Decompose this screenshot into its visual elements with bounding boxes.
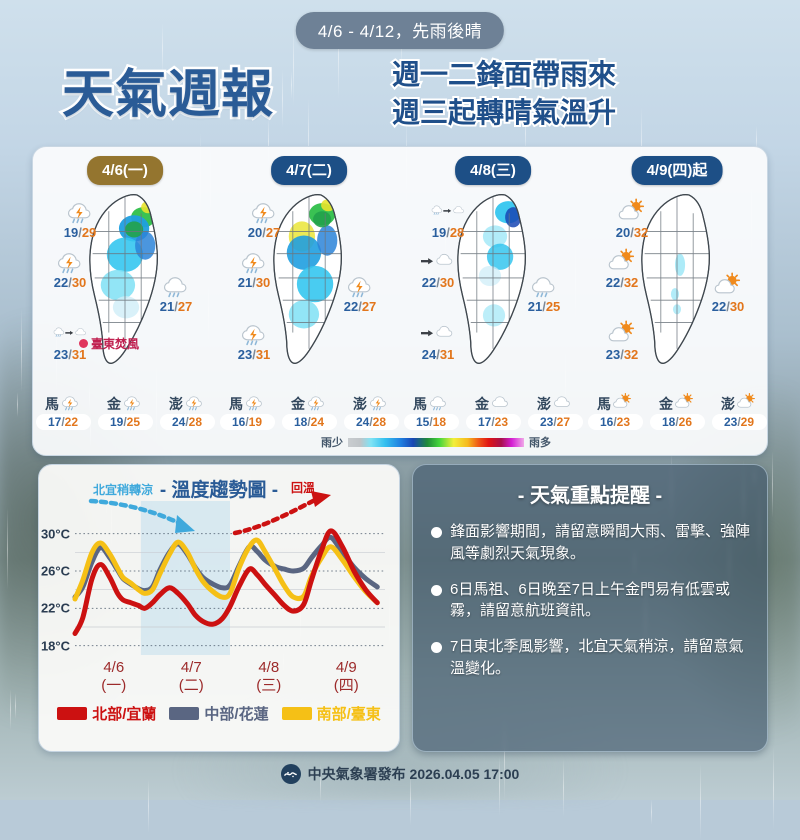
- island-name: 澎: [537, 394, 551, 414]
- thunderstorm-icon: [60, 392, 81, 416]
- subtitle-line-1: 週一二鋒面帶雨來: [392, 56, 616, 94]
- day-label-pill: 4/9(四)起: [632, 156, 723, 185]
- spot-temperature: 22/30: [689, 299, 767, 314]
- island-forecast: 金 19/25: [98, 393, 153, 437]
- arrow-to-cloud-icon: [399, 317, 477, 347]
- island-forecast: 澎 24/28: [344, 393, 399, 437]
- temp-min: 20: [616, 225, 630, 240]
- chart-legend-item: 北部/宜蘭: [57, 703, 156, 724]
- rain-legend: 雨少 雨多: [321, 433, 551, 451]
- temp-max: 18: [433, 415, 446, 429]
- rain-icon: [505, 269, 583, 299]
- island-name: 金: [107, 394, 121, 414]
- spot-temperature: 22/30: [399, 275, 477, 290]
- chart-x-tick: 4/7(二): [179, 659, 204, 696]
- thunderstorm-icon: [41, 195, 119, 225]
- day-note: 臺東焚風: [79, 335, 139, 352]
- temp-max: 22: [65, 415, 78, 429]
- island-forecast: 馬 16/19: [220, 393, 275, 437]
- forecast-spot: 19/29: [41, 195, 119, 240]
- tip-item: 鋒面影響期間，請留意瞬間大雨、雷擊、強陣風等劇烈天氣現象。: [431, 521, 753, 565]
- spot-temperature: 19/28: [409, 225, 487, 240]
- temp-max: 28: [373, 415, 386, 429]
- chart-x-date: 4/6: [101, 659, 126, 677]
- sun-cloud-icon: [689, 269, 767, 299]
- temp-min: 24: [172, 415, 185, 429]
- rain-legend-low: 雨少: [321, 434, 343, 450]
- island-forecast-row: 馬 16/19 金 18/24 澎 24/28: [217, 393, 401, 437]
- spot-temperature: 20/27: [225, 225, 303, 240]
- forecast-spot: 23/32: [583, 317, 661, 362]
- temp-min: 19: [432, 225, 446, 240]
- spot-temperature: 23/31: [215, 347, 293, 362]
- chart-legend-swatch: [57, 707, 87, 720]
- sun-cloud-icon: [593, 195, 671, 225]
- temp-min: 19: [110, 415, 123, 429]
- chart-x-weekday: (一): [101, 677, 126, 695]
- temp-min: 16: [600, 415, 613, 429]
- island-temperature: 18/26: [650, 414, 705, 430]
- chart-x-weekday: (四): [334, 677, 359, 695]
- day-note-text: 臺東焚風: [91, 335, 139, 352]
- chart-x-tick: 4/6(一): [101, 659, 126, 696]
- sun-cloud-icon: [736, 392, 757, 416]
- island-forecast-row: 馬 17/22 金 19/25 澎 24/28: [33, 393, 217, 437]
- thunderstorm-icon: [122, 392, 143, 416]
- forecast-spot: 20/27: [225, 195, 303, 240]
- thunderstorm-icon: [244, 392, 265, 416]
- chart-x-date: 4/7: [179, 659, 204, 677]
- island-temperature: 18/24: [282, 414, 337, 430]
- day-label-pill: 4/6(一): [87, 156, 163, 185]
- forecast-day-column: 4/6(一) 19/29 22/30 21/27 23/31 臺東焚風: [33, 147, 217, 391]
- footer-text: 中央氣象署發布 2026.04.05 17:00: [308, 764, 520, 784]
- temp-max: 27: [178, 299, 192, 314]
- tip-item: 7日東北季風影響，北宜天氣稍涼，請留意氣溫變化。: [431, 636, 753, 680]
- temp-max: 25: [127, 415, 140, 429]
- spot-temperature: 24/31: [399, 347, 477, 362]
- temp-min: 21: [528, 299, 542, 314]
- rain-legend-gradient: [348, 438, 524, 447]
- temp-max: 32: [624, 275, 638, 290]
- forecast-spot: 19/28: [409, 195, 487, 240]
- island-forecast: 金 18/24: [282, 393, 337, 437]
- tip-text: 7日東北季風影響，北宜天氣稍涼，請留意氣溫變化。: [450, 636, 753, 680]
- thunderstorm-icon: [31, 245, 109, 275]
- temp-max: 30: [440, 275, 454, 290]
- chart-legend-swatch: [169, 707, 199, 720]
- rain-icon: [428, 392, 449, 416]
- temp-max: 23: [617, 415, 630, 429]
- chart-y-tick: 22°C: [41, 601, 70, 616]
- temp-min: 18: [662, 415, 675, 429]
- island-temperature: 24/28: [344, 414, 399, 430]
- temp-max: 32: [624, 347, 638, 362]
- bullet-icon: [431, 642, 442, 653]
- forecast-spot: 22/27: [321, 269, 399, 314]
- forecast-spot: 20/32: [593, 195, 671, 240]
- temp-min: 23: [606, 347, 620, 362]
- temp-max: 27: [266, 225, 280, 240]
- thunderstorm-icon: [215, 317, 293, 347]
- forecast-spot: 21/30: [215, 245, 293, 290]
- thunderstorm-icon: [321, 269, 399, 299]
- subtitle-line-2: 週三起轉晴氣溫升: [392, 94, 616, 132]
- info-dot-icon: [79, 339, 88, 348]
- island-forecast: 澎 23/29: [712, 393, 767, 437]
- temp-max: 24: [311, 415, 324, 429]
- arrow-to-cloud-icon: [399, 245, 477, 275]
- bullet-icon: [431, 585, 442, 596]
- temp-min: 24: [356, 415, 369, 429]
- temp-max: 23: [495, 415, 508, 429]
- temp-max: 28: [189, 415, 202, 429]
- forecast-day-column: 4/9(四)起 20/32 22/32 22/30 23/32 馬: [585, 147, 769, 391]
- temp-min: 23: [724, 415, 737, 429]
- tips-title: - 天氣重點提醒 -: [413, 479, 767, 508]
- island-forecast: 馬 15/18: [404, 393, 459, 437]
- island-name: 金: [659, 394, 673, 414]
- chart-x-date: 4/8: [256, 659, 281, 677]
- temp-max: 27: [557, 415, 570, 429]
- island-temperature: 17/22: [36, 414, 91, 430]
- chart-legend: 北部/宜蘭 中部/花蓮 南部/臺東: [39, 703, 399, 724]
- island-name: 金: [475, 394, 489, 414]
- island-temperature: 17/23: [466, 414, 521, 430]
- temp-max: 19: [249, 415, 262, 429]
- spot-temperature: 22/32: [583, 275, 661, 290]
- island-name: 馬: [413, 394, 427, 414]
- day-label-pill: 4/8(三): [455, 156, 531, 185]
- thunderstorm-icon: [225, 195, 303, 225]
- tip-text: 6日馬祖、6日晚至7日上午金門易有低雲或霧，請留意航班資訊。: [450, 579, 753, 623]
- island-forecast: 馬 17/22: [36, 393, 91, 437]
- sun-cloud-icon: [674, 392, 695, 416]
- arrow-down-right-icon: [87, 497, 217, 539]
- thunderstorm-icon: [215, 245, 293, 275]
- day-label-pill: 4/7(二): [271, 156, 347, 185]
- island-forecast: 澎 23/27: [528, 393, 583, 437]
- spot-temperature: 21/27: [137, 299, 215, 314]
- temp-max: 30: [256, 275, 270, 290]
- island-forecast: 馬 16/23: [588, 393, 643, 437]
- cloud-icon: [552, 392, 573, 416]
- island-forecast: 金 18/26: [650, 393, 705, 437]
- island-name: 金: [291, 394, 305, 414]
- temp-min: 22: [712, 299, 726, 314]
- temp-min: 21: [160, 299, 174, 314]
- temp-min: 21: [238, 275, 252, 290]
- temp-max: 30: [72, 275, 86, 290]
- island-name: 馬: [597, 394, 611, 414]
- spot-temperature: 21/30: [215, 275, 293, 290]
- chart-annotation-cooling: 北宜稍轉涼: [93, 481, 153, 498]
- island-forecast-row: 馬 15/18 金 17/23 澎 23/27: [401, 393, 585, 437]
- temp-max: 25: [546, 299, 560, 314]
- spot-temperature: 22/30: [31, 275, 109, 290]
- spot-temperature: 21/25: [505, 299, 583, 314]
- bullet-icon: [431, 527, 442, 538]
- forecast-spot: 24/31: [399, 317, 477, 362]
- temp-max: 31: [256, 347, 270, 362]
- temp-max: 29: [741, 415, 754, 429]
- temp-min: 15: [416, 415, 429, 429]
- cwa-logo-icon: [281, 764, 301, 784]
- island-name: 澎: [169, 394, 183, 414]
- spot-temperature: 23/32: [583, 347, 661, 362]
- chart-legend-label: 中部/花蓮: [204, 703, 268, 724]
- temp-min: 22: [344, 299, 358, 314]
- page-title: 天氣週報: [62, 52, 274, 127]
- island-temperature: 16/23: [588, 414, 643, 430]
- subtitle: 週一二鋒面帶雨來 週三起轉晴氣溫升: [392, 56, 616, 132]
- sun-cloud-icon: [583, 317, 661, 347]
- temp-min: 23: [54, 347, 68, 362]
- temperature-trend-panel: - 溫度趨勢圖 - 18°C22°C26°C30°C 4/6(一)4/7(二)4…: [38, 464, 400, 752]
- island-name: 澎: [353, 394, 367, 414]
- forecast-spot: 23/31: [215, 317, 293, 362]
- temp-min: 17: [48, 415, 61, 429]
- forecast-spot: 21/27: [137, 269, 215, 314]
- temp-min: 24: [422, 347, 436, 362]
- tips-list: 鋒面影響期間，請留意瞬間大雨、雷擊、強陣風等劇烈天氣現象。 6日馬祖、6日晚至7…: [431, 521, 753, 694]
- temp-max: 28: [450, 225, 464, 240]
- spot-temperature: 19/29: [41, 225, 119, 240]
- forecast-day-column: 4/8(三) 19/28 22/30 21/25 24/31 馬: [401, 147, 585, 391]
- chart-legend-label: 南部/臺東: [317, 703, 381, 724]
- arrow-up-right-icon: [231, 493, 361, 541]
- spot-temperature: 22/27: [321, 299, 399, 314]
- island-temperature: 24/28: [160, 414, 215, 430]
- island-temperature: 23/29: [712, 414, 767, 430]
- chart-y-tick: 30°C: [41, 526, 70, 541]
- temp-min: 17: [478, 415, 491, 429]
- chart-legend-label: 北部/宜蘭: [92, 703, 156, 724]
- chart-plot-area: 18°C22°C26°C30°C 4/6(一)4/7(二)4/8(三)4/9(四…: [75, 515, 385, 655]
- forecast-panel: 4/6(一) 19/29 22/30 21/27 23/31 臺東焚風: [32, 146, 768, 456]
- temp-max: 29: [82, 225, 96, 240]
- chart-y-tick: 26°C: [41, 564, 70, 579]
- temp-min: 22: [422, 275, 436, 290]
- rain-to-cloud-icon: [409, 195, 487, 225]
- chart-x-weekday: (二): [179, 677, 204, 695]
- island-name: 澎: [721, 394, 735, 414]
- temp-min: 18: [294, 415, 307, 429]
- temp-min: 19: [64, 225, 78, 240]
- island-temperature: 23/27: [528, 414, 583, 430]
- weather-tips-panel: - 天氣重點提醒 - 鋒面影響期間，請留意瞬間大雨、雷擊、強陣風等劇烈天氣現象。…: [412, 464, 768, 752]
- island-forecast-row: 馬 16/23 金 18/26 澎 23/29: [585, 393, 769, 437]
- temp-min: 22: [606, 275, 620, 290]
- forecast-spot: 22/30: [399, 245, 477, 290]
- spot-temperature: 20/32: [593, 225, 671, 240]
- temp-min: 16: [232, 415, 245, 429]
- island-temperature: 19/25: [98, 414, 153, 430]
- cloud-icon: [490, 392, 511, 416]
- temp-max: 26: [679, 415, 692, 429]
- tip-text: 鋒面影響期間，請留意瞬間大雨、雷擊、強陣風等劇烈天氣現象。: [450, 521, 753, 565]
- island-name: 馬: [45, 394, 59, 414]
- chart-legend-swatch: [282, 707, 312, 720]
- temp-max: 31: [440, 347, 454, 362]
- temp-max: 30: [730, 299, 744, 314]
- temp-max: 32: [634, 225, 648, 240]
- temp-max: 27: [362, 299, 376, 314]
- header: 4/6 - 4/12，先雨後晴 天氣週報 週一二鋒面帶雨來 週三起轉晴氣溫升: [0, 0, 800, 146]
- temp-min: 20: [248, 225, 262, 240]
- date-range-pill: 4/6 - 4/12，先雨後晴: [296, 12, 504, 49]
- island-forecast: 澎 24/28: [160, 393, 215, 437]
- chart-y-tick: 18°C: [41, 638, 70, 653]
- sun-cloud-icon: [583, 245, 661, 275]
- island-temperature: 16/19: [220, 414, 275, 430]
- forecast-spot: 22/30: [31, 245, 109, 290]
- footer: 中央氣象署發布 2026.04.05 17:00: [0, 764, 800, 784]
- chart-legend-item: 南部/臺東: [282, 703, 381, 724]
- chart-x-date: 4/9: [334, 659, 359, 677]
- chart-x-tick: 4/9(四): [334, 659, 359, 696]
- chart-legend-item: 中部/花蓮: [169, 703, 268, 724]
- thunderstorm-icon: [368, 392, 389, 416]
- rain-legend-high: 雨多: [529, 434, 551, 450]
- sun-cloud-icon: [612, 392, 633, 416]
- forecast-day-column: 4/7(二) 20/27 21/30 22/27 23/31 馬: [217, 147, 401, 391]
- chart-x-tick: 4/8(三): [256, 659, 281, 696]
- tip-item: 6日馬祖、6日晚至7日上午金門易有低雲或霧，請留意航班資訊。: [431, 579, 753, 623]
- chart-x-weekday: (三): [256, 677, 281, 695]
- rain-icon: [137, 269, 215, 299]
- forecast-spot: 22/30: [689, 269, 767, 314]
- temp-min: 23: [540, 415, 553, 429]
- forecast-spot: 21/25: [505, 269, 583, 314]
- temp-min: 22: [54, 275, 68, 290]
- temp-min: 23: [238, 347, 252, 362]
- thunderstorm-icon: [306, 392, 327, 416]
- forecast-spot: 22/32: [583, 245, 661, 290]
- island-name: 馬: [229, 394, 243, 414]
- island-forecast: 金 17/23: [466, 393, 521, 437]
- thunderstorm-icon: [184, 392, 205, 416]
- island-temperature: 15/18: [404, 414, 459, 430]
